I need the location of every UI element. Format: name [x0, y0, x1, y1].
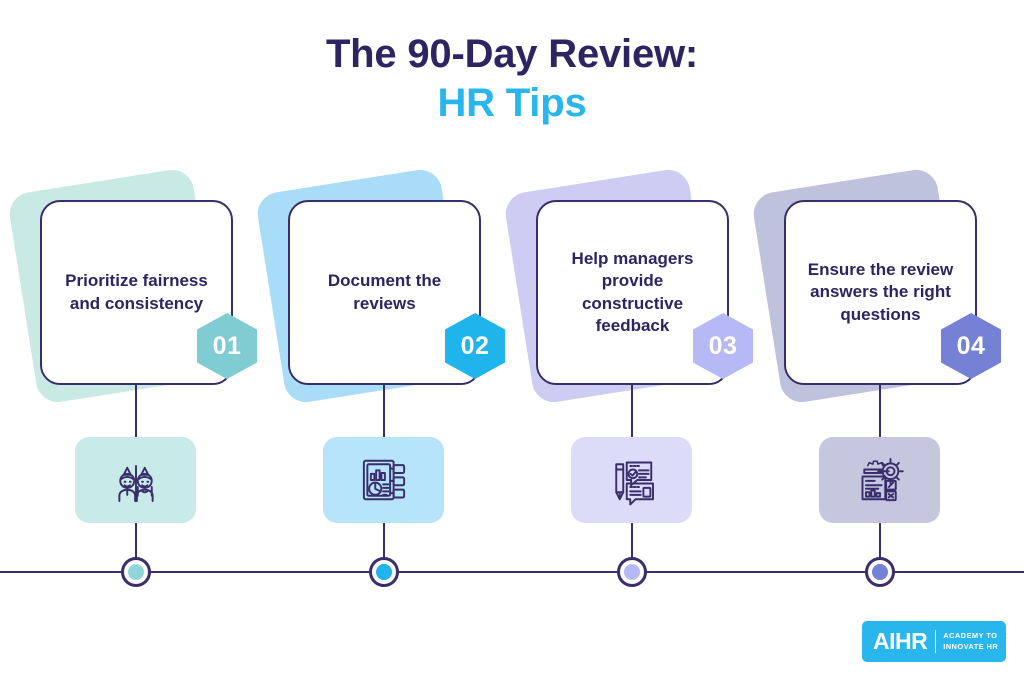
report-chart-document-icon: [356, 452, 412, 508]
step-number-02: 02: [461, 332, 490, 361]
step-card-text-03: Help managers provide constructive feedb…: [552, 248, 713, 338]
icon-tile-01: [75, 437, 196, 523]
timeline-dot-fill-04: [872, 564, 888, 580]
step-card-text-01: Prioritize fairness and consistency: [56, 270, 217, 315]
timeline-dot-04: [865, 557, 895, 587]
icon-tile-03: [571, 437, 692, 523]
icon-tile-02: [323, 437, 444, 523]
logo-tagline-line1: ACADEMY TO: [943, 631, 997, 640]
logo-tagline-line2: INNOVATE HR: [943, 642, 998, 651]
timeline-dot-02: [369, 557, 399, 587]
timeline-dot-fill-02: [376, 564, 392, 580]
pencil-feedback-bubbles-icon: [604, 452, 660, 508]
logo-wordmark: AIHR: [862, 628, 927, 655]
logo-divider: [935, 630, 936, 653]
step-number-04: 04: [957, 332, 986, 361]
connector-icon-to-dot-01: [135, 523, 137, 561]
connector-card-to-icon-01: [135, 385, 137, 437]
timeline-dot-03: [617, 557, 647, 587]
infographic-canvas: The 90-Day Review: HR Tips Prioritize fa…: [0, 0, 1024, 680]
icon-tile-04: [819, 437, 940, 523]
connector-icon-to-dot-03: [631, 523, 633, 561]
connector-card-to-icon-02: [383, 385, 385, 437]
step-01: Prioritize fairness and consistency 01: [0, 0, 248, 680]
connector-card-to-icon-04: [879, 385, 881, 437]
step-card-text-04: Ensure the review answers the right ques…: [800, 259, 961, 326]
connector-icon-to-dot-02: [383, 523, 385, 561]
logo-tagline: ACADEMY TO INNOVATE HR: [943, 631, 998, 652]
connector-card-to-icon-03: [631, 385, 633, 437]
step-02: Document the reviews 02: [248, 0, 496, 680]
timeline-dot-01: [121, 557, 151, 587]
step-03: Help managers provide constructive feedb…: [496, 0, 744, 680]
connector-icon-to-dot-04: [879, 523, 881, 561]
two-people-icon: [108, 452, 164, 508]
timeline-dot-fill-03: [624, 564, 640, 580]
document-gear-analysis-icon: [852, 452, 908, 508]
step-number-03: 03: [709, 332, 738, 361]
step-card-text-02: Document the reviews: [304, 270, 465, 315]
step-number-01: 01: [213, 332, 242, 361]
step-04: Ensure the review answers the right ques…: [744, 0, 992, 680]
aihr-logo[interactable]: AIHR ACADEMY TO INNOVATE HR: [862, 621, 1006, 662]
timeline-dot-fill-01: [128, 564, 144, 580]
